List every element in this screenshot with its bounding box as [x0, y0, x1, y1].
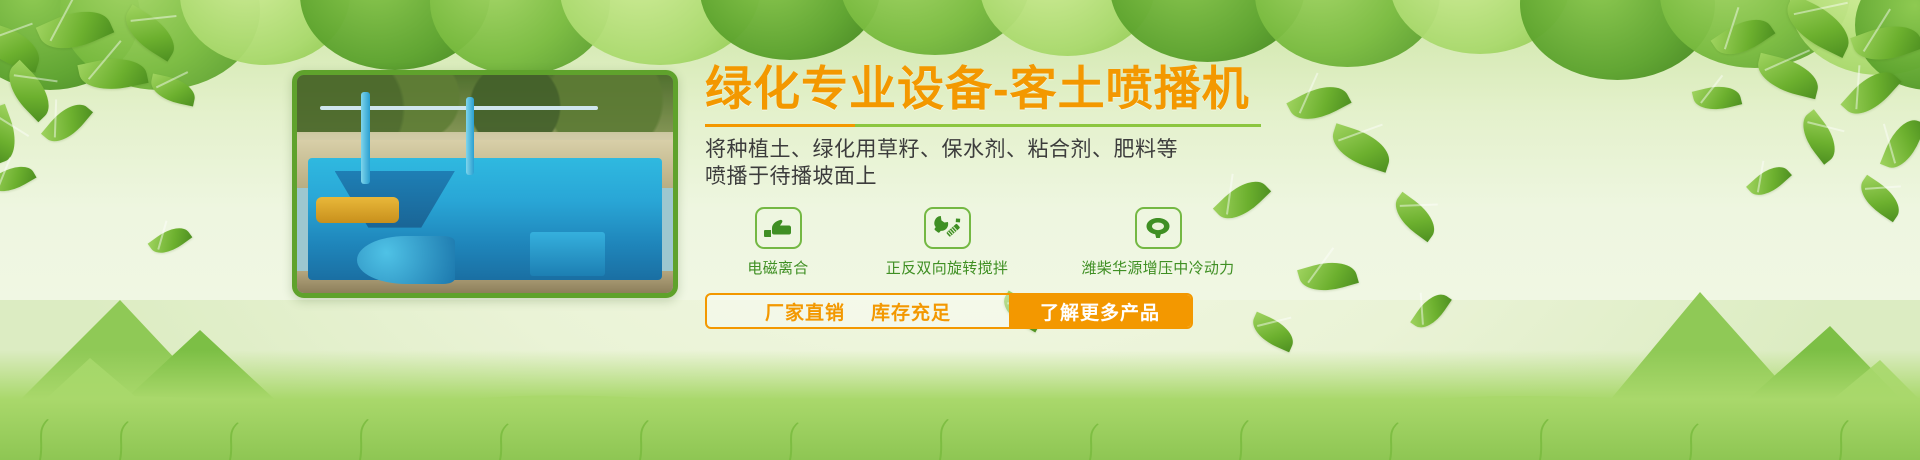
feature-label-engine: 潍柴华源增压中冷动力	[1043, 257, 1273, 278]
cta-bar: 厂家直销 库存充足 了解更多产品	[705, 293, 1193, 329]
banner-content: 绿化专业设备-客土喷播机 将种植土、绿化用草籽、保水剂、粘合剂、肥料等 喷播于待…	[705, 64, 1465, 329]
wrench-screwdriver-icon	[924, 207, 971, 249]
banner-subtitle: 将种植土、绿化用草籽、保水剂、粘合剂、肥料等 喷播于待播坡面上	[705, 136, 1465, 191]
clutch-hand-icon	[755, 207, 802, 249]
feature-item-engine[interactable]: 潍柴华源增压中冷动力	[1043, 207, 1273, 278]
engine-power-icon	[1135, 207, 1182, 249]
product-photo-image	[297, 75, 673, 293]
grass-blades	[0, 330, 1920, 460]
feature-label-clutch: 电磁离合	[705, 257, 851, 278]
product-photo[interactable]	[292, 70, 678, 298]
promo-banner: 绿化专业设备-客土喷播机 将种植土、绿化用草籽、保水剂、粘合剂、肥料等 喷播于待…	[0, 0, 1920, 460]
cta-badge-factory-direct: 厂家直销	[765, 298, 845, 325]
learn-more-button[interactable]: 了解更多产品	[1009, 295, 1191, 327]
feature-label-mixer: 正反双向旋转搅拌	[851, 257, 1043, 278]
title-divider	[705, 124, 1261, 127]
feature-item-clutch[interactable]: 电磁离合	[705, 207, 851, 278]
subtitle-line-1: 将种植土、绿化用草籽、保水剂、粘合剂、肥料等	[705, 136, 1465, 164]
cta-badge-in-stock: 库存充足	[871, 298, 951, 325]
feature-list: 电磁离合 正反双向旋转搅	[705, 207, 1465, 278]
subtitle-line-2: 喷播于待播坡面上	[705, 163, 1465, 191]
feature-item-mixer[interactable]: 正反双向旋转搅拌	[851, 207, 1043, 278]
banner-title: 绿化专业设备-客土喷播机	[705, 64, 1465, 115]
cta-badges: 厂家直销 库存充足	[707, 295, 1009, 327]
